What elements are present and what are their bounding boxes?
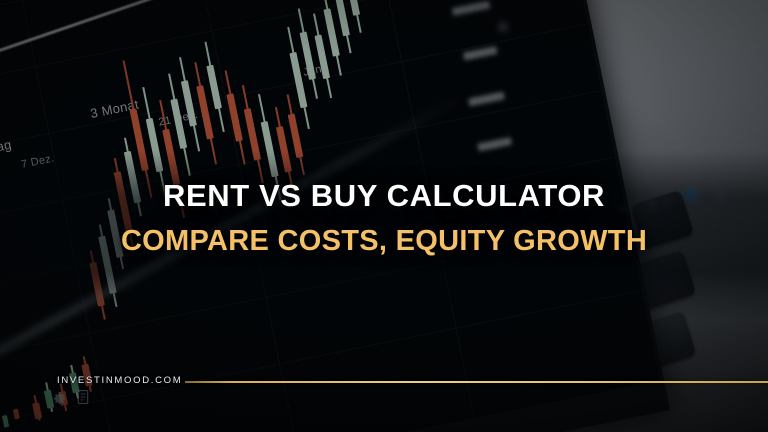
text-overlay: RENT VS BUY CALCULATOR COMPARE COSTS, EQ…: [0, 0, 768, 432]
brand-divider: [185, 381, 768, 383]
page-subtitle: COMPARE COSTS, EQUITY GROWTH: [84, 224, 684, 259]
page-title: RENT VS BUY CALCULATOR: [0, 178, 768, 214]
promo-banner: F3 F4 % 6: [0, 0, 768, 432]
brand-label: INVESTINMOOD.COM: [57, 375, 182, 386]
